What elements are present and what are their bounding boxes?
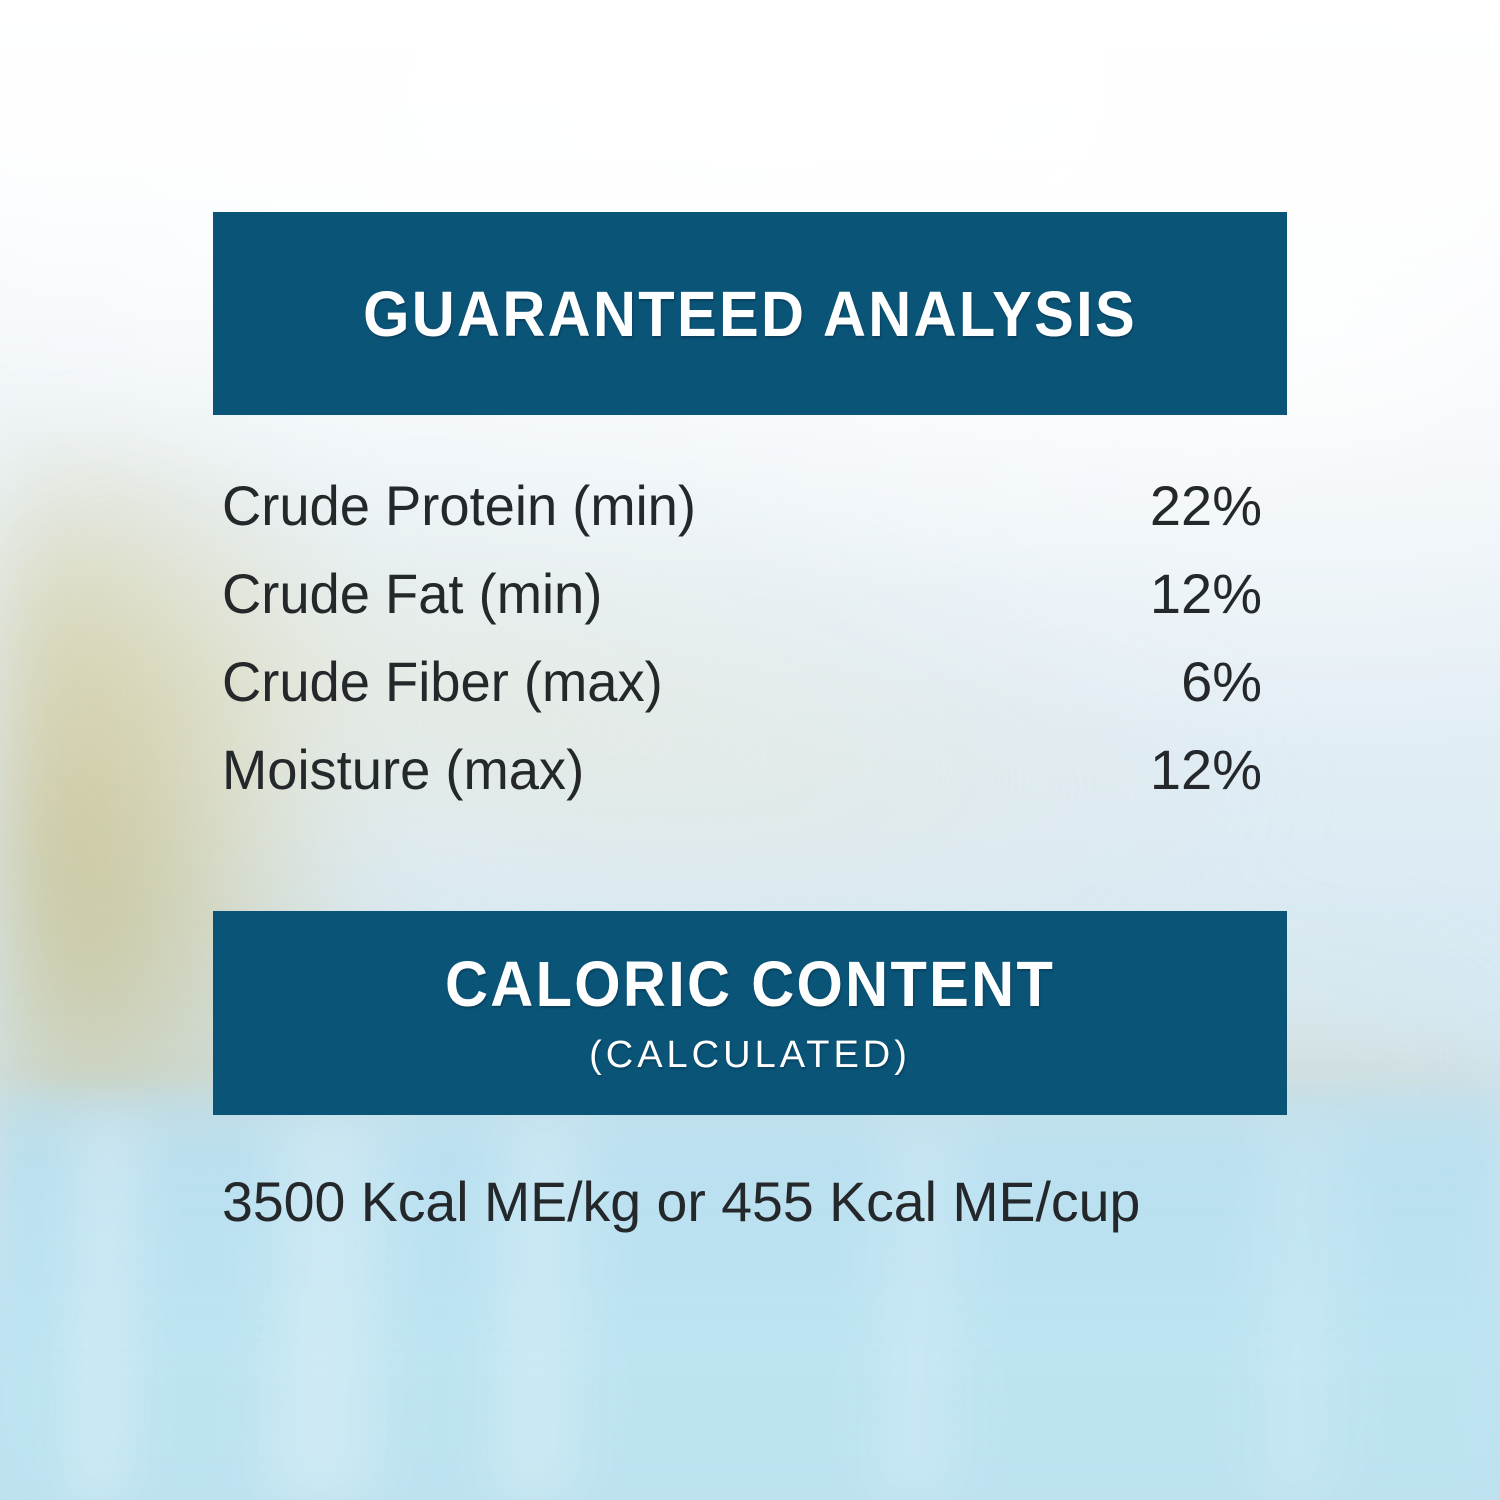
caloric-content-statement: 3500 Kcal ME/kg or 455 Kcal ME/cup (222, 1168, 1262, 1235)
guaranteed-analysis-banner: GUARANTEED ANALYSIS (213, 212, 1287, 415)
table-row: Crude Protein (min) 22% (222, 462, 1262, 550)
table-row: Crude Fiber (max) 6% (222, 638, 1262, 726)
row-value: 12% (1150, 550, 1262, 638)
row-label: Crude Protein (min) (222, 462, 696, 550)
table-row: Moisture (max) 12% (222, 726, 1262, 814)
guaranteed-analysis-table: Crude Protein (min) 22% Crude Fat (min) … (222, 462, 1262, 814)
caloric-content-title: CALORIC CONTENT (445, 952, 1055, 1016)
row-label: Crude Fat (min) (222, 550, 602, 638)
guaranteed-analysis-title: GUARANTEED ANALYSIS (363, 282, 1137, 346)
caloric-content-subtitle: (CALCULATED) (589, 1036, 911, 1074)
row-value: 22% (1150, 462, 1262, 550)
row-label: Moisture (max) (222, 726, 584, 814)
row-value: 12% (1150, 726, 1262, 814)
nutrition-panel: GUARANTEED ANALYSIS Crude Protein (min) … (0, 0, 1500, 1500)
row-label: Crude Fiber (max) (222, 638, 663, 726)
row-value: 6% (1181, 638, 1262, 726)
table-row: Crude Fat (min) 12% (222, 550, 1262, 638)
caloric-content-banner: CALORIC CONTENT (CALCULATED) (213, 911, 1287, 1115)
